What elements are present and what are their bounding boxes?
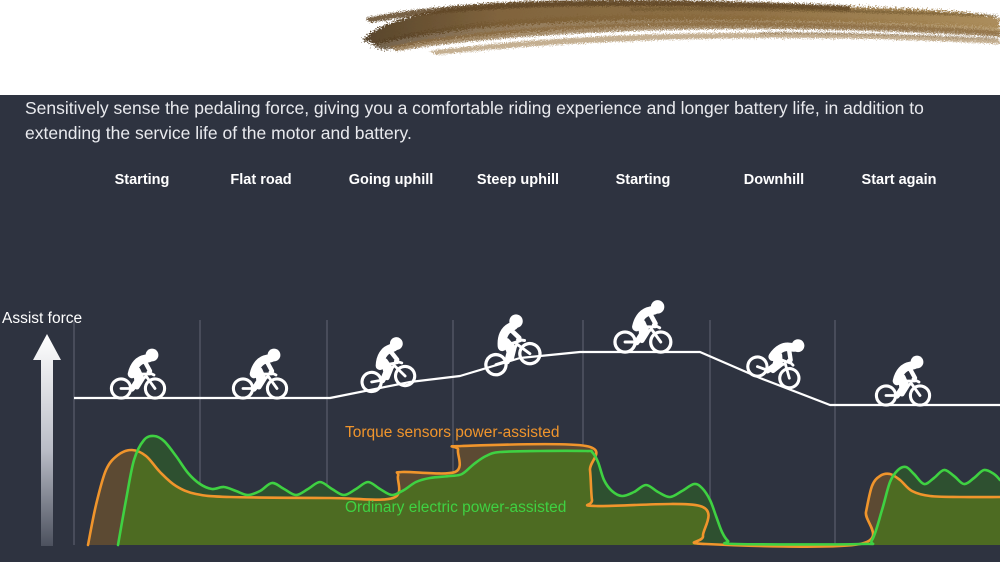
assist-force-chart: [0, 95, 1000, 562]
legend-ordinary-assist: Ordinary electric power-assisted: [345, 499, 566, 517]
cyclist-icon: [745, 326, 812, 391]
page-title: Torque Sensor: [24, 51, 271, 86]
cyclist-icon: [355, 335, 416, 393]
dirt-brush-stroke: [330, 0, 1000, 68]
infographic-root: Torque Sensor Sensitively sense the peda…: [0, 0, 1000, 562]
cyclist-icon: [111, 349, 164, 399]
cyclist-icon-group: [111, 300, 929, 405]
cyclist-icon: [473, 311, 542, 378]
cyclist-icon: [876, 356, 929, 406]
legend-torque-sensors: Torque sensors power-assisted: [345, 424, 560, 442]
cyclist-icon: [615, 300, 671, 352]
cyclist-icon: [233, 349, 286, 399]
